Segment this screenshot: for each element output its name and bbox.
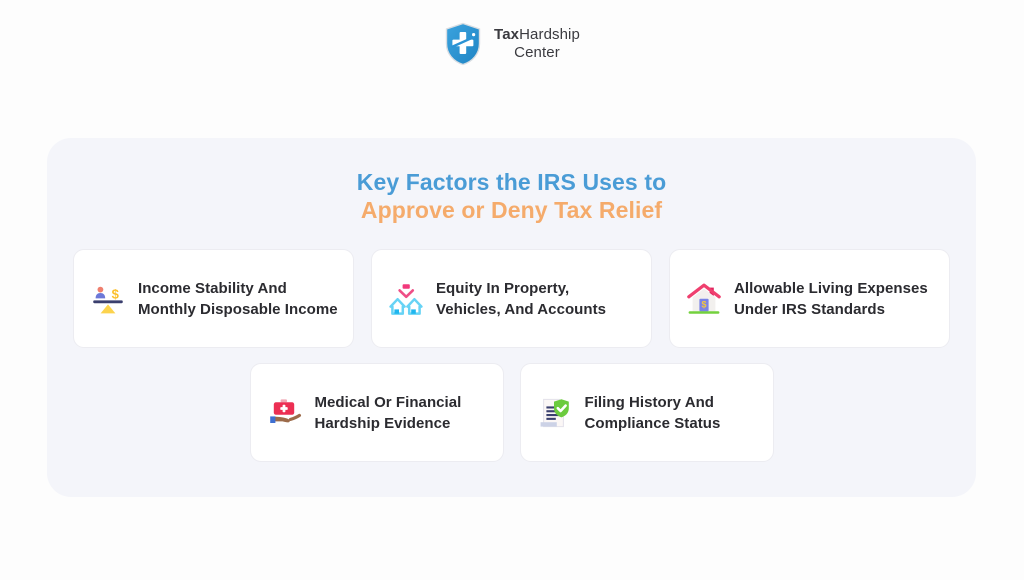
factor-label-line1: Income Stability And bbox=[138, 278, 338, 299]
heading-line-1: Key Factors the IRS Uses to bbox=[47, 168, 976, 196]
factor-card-label: Filing History And Compliance Status bbox=[585, 392, 721, 434]
shield-medical-cross-icon bbox=[444, 22, 482, 66]
key-factors-panel: Key Factors the IRS Uses to Approve or D… bbox=[47, 138, 976, 497]
brand-name-line2: Center bbox=[514, 44, 560, 62]
factor-card-label: Allowable Living Expenses Under IRS Stan… bbox=[734, 278, 928, 320]
brand-name-bold: Tax bbox=[494, 26, 519, 43]
cards-row-top: $ Income Stability And Monthly Disposabl… bbox=[47, 249, 976, 348]
factor-card-income-stability[interactable]: $ Income Stability And Monthly Disposabl… bbox=[73, 249, 354, 348]
factor-label-line2: Under IRS Standards bbox=[734, 299, 928, 320]
brand-name-rest: Hardship bbox=[519, 26, 580, 43]
factor-label-line1: Equity In Property, bbox=[436, 278, 606, 299]
svg-text:$: $ bbox=[701, 299, 706, 309]
brand-name-line1: TaxHardship bbox=[494, 26, 580, 44]
svg-text:$: $ bbox=[112, 286, 120, 301]
page-root: TaxHardship Center Key Factors the IRS U… bbox=[0, 0, 1024, 580]
houses-down-arrow-equity-icon bbox=[389, 282, 423, 316]
factor-card-living-expenses[interactable]: $ Allowable Living Expenses Under IRS St… bbox=[669, 249, 950, 348]
brand-name: TaxHardship Center bbox=[494, 26, 580, 61]
cards-row-bottom: Medical Or Financial Hardship Evidence bbox=[47, 363, 976, 462]
heading-line-2: Approve or Deny Tax Relief bbox=[47, 196, 976, 224]
brand-header: TaxHardship Center bbox=[0, 22, 1024, 66]
factor-label-line2: Vehicles, And Accounts bbox=[436, 299, 606, 320]
house-dollar-expenses-icon: $ bbox=[687, 282, 721, 316]
factor-card-label: Equity In Property, Vehicles, And Accoun… bbox=[436, 278, 606, 320]
factor-label-line1: Medical Or Financial bbox=[315, 392, 462, 413]
balance-scale-income-icon: $ bbox=[91, 282, 125, 316]
factor-label-line2: Monthly Disposable Income bbox=[138, 299, 338, 320]
factor-label-line1: Filing History And bbox=[585, 392, 721, 413]
factor-card-label: Income Stability And Monthly Disposable … bbox=[138, 278, 338, 320]
factor-card-hardship-evidence[interactable]: Medical Or Financial Hardship Evidence bbox=[250, 363, 504, 462]
hand-medical-kit-icon bbox=[268, 396, 302, 430]
factor-card-filing-history[interactable]: Filing History And Compliance Status bbox=[520, 363, 774, 462]
factor-card-equity-property[interactable]: Equity In Property, Vehicles, And Accoun… bbox=[371, 249, 652, 348]
factor-label-line2: Compliance Status bbox=[585, 413, 721, 434]
factor-label-line2: Hardship Evidence bbox=[315, 413, 462, 434]
panel-heading: Key Factors the IRS Uses to Approve or D… bbox=[47, 138, 976, 224]
factor-label-line1: Allowable Living Expenses bbox=[734, 278, 928, 299]
factor-card-label: Medical Or Financial Hardship Evidence bbox=[315, 392, 462, 434]
document-shield-check-icon bbox=[538, 396, 572, 430]
